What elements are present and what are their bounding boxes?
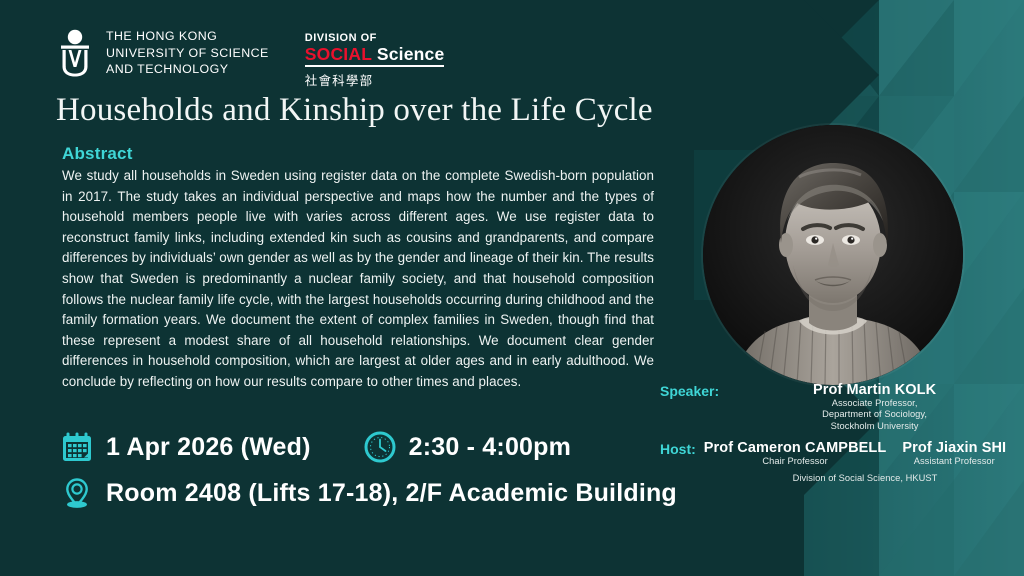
speaker-row: Speaker: Prof Martin KOLK Associate Prof… (660, 382, 1024, 432)
speaker-host-block: Speaker: Prof Martin KOLK Associate Prof… (660, 382, 1024, 483)
speaker-label: Speaker: (660, 382, 719, 399)
clock-icon (359, 426, 401, 468)
hkust-name-line-3: AND TECHNOLOGY (106, 61, 269, 77)
hkust-name-line-1: THE HONG KONG (106, 28, 269, 44)
calendar-icon (56, 426, 98, 468)
host-item: Prof Cameron CAMPBELL Chair Professor (704, 440, 887, 467)
hkust-logo: THE HONG KONG UNIVERSITY OF SCIENCE AND … (55, 28, 269, 78)
division-name-social: SOCIAL (305, 44, 372, 64)
division-name-science: Science (377, 44, 445, 64)
location-pin-icon (56, 472, 98, 514)
host-name: Prof Cameron CAMPBELL (704, 440, 887, 456)
seminar-poster: THE HONG KONG UNIVERSITY OF SCIENCE AND … (0, 0, 1024, 576)
speaker-department: Department of Sociology, (725, 409, 1024, 420)
division-name-chinese: 社會科學部 (305, 70, 445, 89)
host-name: Prof Jiaxin SHI (902, 440, 1006, 456)
host-label: Host: (660, 440, 696, 457)
host-item: Prof Jiaxin SHI Assistant Professor (902, 440, 1006, 467)
division-label: DIVISION OF (305, 32, 445, 44)
event-details: 1 Apr 2026 (Wed) 2:30 - 4:00pm (56, 424, 677, 516)
speaker-institution: Stockholm University (725, 421, 1024, 432)
date-time-row: 1 Apr 2026 (Wed) 2:30 - 4:00pm (56, 424, 677, 470)
abstract-heading: Abstract (62, 144, 133, 164)
host-title: Assistant Professor (902, 456, 1006, 467)
speaker-name: Prof Martin KOLK (725, 382, 1024, 398)
header-logos: THE HONG KONG UNIVERSITY OF SCIENCE AND … (55, 28, 444, 89)
host-row: Host: Prof Cameron CAMPBELL Chair Profes… (660, 440, 1024, 467)
hkust-pillar-logo-icon (55, 28, 95, 78)
abstract-text: We study all households in Sweden using … (62, 166, 654, 393)
speaker-portrait (703, 125, 963, 385)
venue-row: Room 2408 (Lifts 17-18), 2/F Academic Bu… (56, 470, 677, 516)
event-venue: Room 2408 (Lifts 17-18), 2/F Academic Bu… (106, 479, 677, 508)
host-affiliation: Division of Social Science, HKUST (660, 473, 1024, 483)
hkust-name-line-2: UNIVERSITY OF SCIENCE (106, 45, 269, 61)
event-time: 2:30 - 4:00pm (409, 433, 571, 462)
division-of-social-science-logo: DIVISION OF SOCIAL Science 社會科學部 (305, 28, 445, 89)
division-name: SOCIAL Science (305, 44, 445, 67)
page-title: Households and Kinship over the Life Cyc… (56, 92, 696, 130)
hkust-wordmark: THE HONG KONG UNIVERSITY OF SCIENCE AND … (106, 28, 269, 77)
host-list: Prof Cameron CAMPBELL Chair Professor Pr… (696, 440, 1006, 467)
event-date: 1 Apr 2026 (Wed) (106, 433, 311, 462)
speaker-info: Prof Martin KOLK Associate Professor, De… (719, 382, 1024, 432)
host-title: Chair Professor (704, 456, 887, 467)
speaker-title: Associate Professor, (725, 398, 1024, 409)
